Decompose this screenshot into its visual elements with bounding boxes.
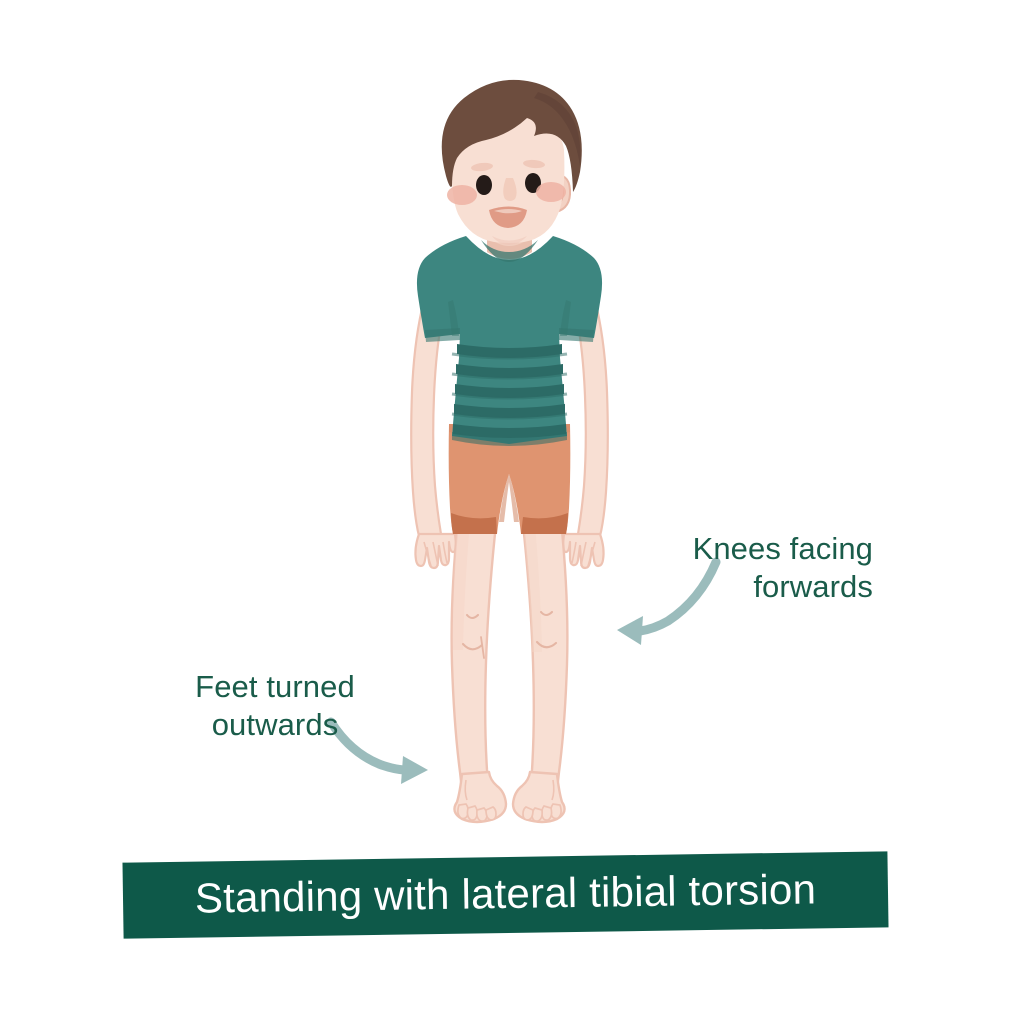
annotation-label-knees: Knees facing forwards (553, 530, 873, 606)
caption-text: Standing with lateral tibial torsion (195, 865, 817, 922)
illustration-canvas: Knees facing forwards Feet turned outwar… (0, 0, 1019, 1019)
annotation-label-feet: Feet turned outwards (160, 668, 390, 744)
caption-banner: Standing with lateral tibial torsion (122, 851, 888, 938)
